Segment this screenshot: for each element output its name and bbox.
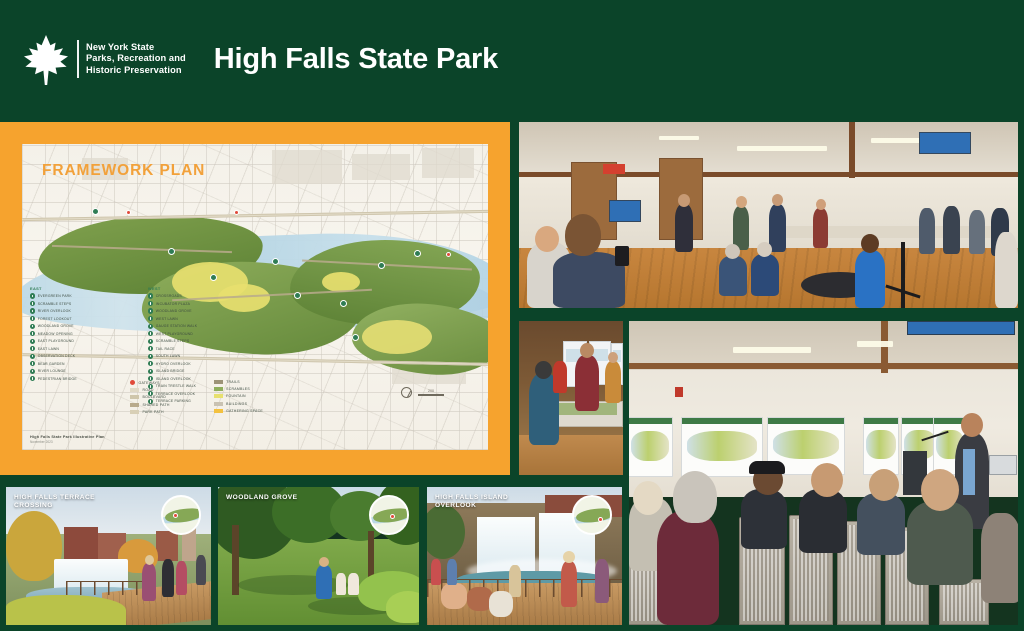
person-head (565, 214, 601, 256)
ceiling-light (737, 146, 827, 151)
pin-icon (148, 369, 153, 374)
render-high-falls-terrace-crossing: HIGH FALLS TERRACE CROSSING (6, 487, 211, 625)
plan-pin (210, 274, 217, 281)
presentation-screen (919, 132, 971, 154)
board-header (864, 418, 898, 424)
slide-root: New York State Parks, Recreation and His… (0, 0, 1024, 631)
pin-icon (30, 339, 35, 344)
locator-marker (598, 517, 603, 522)
visitor (509, 565, 521, 597)
plan-pin (294, 292, 301, 299)
pin-icon (148, 308, 153, 313)
wall-beam (629, 363, 1018, 369)
photo-public-meeting-hall (519, 122, 1018, 308)
plan-pin (414, 250, 421, 257)
person-head (633, 481, 663, 515)
key-label: GATEWAYS (139, 381, 160, 385)
plan-pin (168, 248, 175, 255)
exit-sign (603, 164, 625, 174)
board-map (773, 430, 840, 459)
pin-icon (30, 301, 35, 306)
fountain-swatch-icon (214, 394, 223, 398)
legend-item: EAST LAWN (30, 346, 96, 351)
shared-path-swatch-icon (130, 403, 139, 407)
legend-item: GAUGE STATION WALK (148, 324, 214, 329)
audience-member (799, 489, 847, 553)
agency-name: New York State Parks, Recreation and His… (86, 42, 186, 76)
render-high-falls-island-overlook: HIGH FALLS ISLAND OVERLOOK (427, 487, 622, 625)
pin-icon (30, 376, 35, 381)
key-row: BUILDINGS (214, 402, 263, 406)
plan-pin (92, 208, 99, 215)
key-label: SCRAMBLES (226, 387, 250, 391)
visitor (142, 563, 156, 601)
pin-icon (30, 316, 35, 321)
scale-bar-graphic (418, 394, 444, 396)
locator-park (164, 507, 201, 524)
legend-item: WEST PLAYGROUND (148, 331, 214, 336)
photo-presentation-audience (629, 321, 1018, 625)
pin-icon (30, 361, 35, 366)
audience-member (981, 513, 1018, 603)
key-row: PARK PATH (130, 410, 170, 414)
locator-marker (173, 513, 178, 518)
trails-swatch-icon (214, 380, 223, 384)
person-head (145, 555, 154, 565)
pin-icon (148, 316, 153, 321)
pin-icon (148, 324, 153, 329)
visitor (431, 559, 441, 585)
projection-screen (907, 321, 1015, 335)
seat-mesh (943, 583, 985, 621)
person (855, 250, 885, 308)
legend-item: CROSSROADS (148, 293, 214, 298)
visitor (561, 561, 577, 607)
locator-park (575, 507, 612, 524)
person-head (580, 343, 594, 358)
key-row: ROAD (130, 388, 170, 392)
visitor (595, 559, 609, 603)
agency-line-2: Parks, Recreation and (86, 53, 186, 64)
person-head (736, 196, 747, 208)
audience-member (907, 501, 973, 585)
person (675, 204, 693, 252)
photo-audience-scene (629, 321, 1018, 625)
legend-item-label: SCRAMBLE STEPS (38, 302, 72, 306)
pin-icon (148, 293, 153, 298)
render-label: HIGH FALLS TERRACE CROSSING (14, 494, 95, 510)
pin-icon (30, 308, 35, 313)
legend-item-label: INCUBATOR PLAZA (156, 302, 190, 306)
legend-item: BEAR GARDEN (30, 361, 96, 366)
person (943, 206, 960, 254)
gateway-marker (126, 210, 131, 215)
gateway-marker (234, 210, 239, 215)
gathering-space-swatch-icon (214, 409, 223, 413)
boulevard-swatch-icon (130, 395, 139, 399)
key-column-left: GATEWAYS ROAD BOULEVARD SHARED PATH PARK… (130, 380, 170, 414)
city-block (272, 150, 342, 184)
key-row: TRAILS (214, 380, 263, 384)
key-row: BOULEVARD (130, 395, 170, 399)
legend-item-label: GAUGE STATION WALK (156, 324, 197, 328)
board-header (629, 418, 672, 424)
legend-item: EVERGREEN PARK (30, 293, 96, 298)
presenter-shirt (963, 449, 975, 495)
lawn-shape (218, 284, 270, 312)
sunhat (563, 551, 575, 563)
legend-item-label: OBSERVATION DECK (38, 354, 76, 358)
plan-key-legend: GATEWAYS ROAD BOULEVARD SHARED PATH PARK… (130, 380, 263, 414)
legend-item-label: FOREST LOOKOUT (38, 317, 72, 321)
legend-item-label: EAST PLAYGROUND (38, 339, 74, 343)
legend-item-label: SOUTH LAWN (156, 354, 180, 358)
person-head (678, 194, 690, 207)
board-map (687, 431, 757, 461)
ceiling-light (659, 136, 699, 140)
legend-item-label: WEST PLAYGROUND (156, 332, 193, 336)
gateway-marker (446, 252, 451, 257)
lawn-shape (362, 320, 432, 354)
map-scale: 200 (401, 387, 444, 398)
agency-line-3: Historic Preservation (86, 65, 186, 76)
person-head (535, 226, 559, 252)
person-head (869, 469, 899, 501)
board-map (866, 430, 896, 459)
person (733, 206, 749, 250)
city-block (352, 154, 410, 180)
visitor-seated (441, 583, 467, 609)
key-label: FOUNTAIN (226, 394, 246, 398)
key-label: BOULEVARD (143, 395, 167, 399)
pin-icon (30, 354, 35, 359)
project-board (629, 417, 673, 477)
gateway-swatch-icon (130, 380, 135, 385)
plan-heading: FRAMEWORK PLAN (42, 162, 205, 180)
legend-item-label: TAIL RACE (156, 347, 175, 351)
visitor (447, 559, 457, 585)
legend-item-label: WEST LAWN (156, 317, 178, 321)
project-board (863, 417, 899, 475)
photo-display-boards (519, 321, 623, 475)
legend-item: TAIL RACE (148, 346, 214, 351)
plan-caption: High Falls State Park Illustrative Plan … (30, 435, 105, 444)
photo-hall-scene (519, 122, 1018, 308)
wall-beam (849, 122, 855, 178)
legend-item: WOODLAND GROVE (148, 308, 214, 313)
legend-item-label: BEAR GARDEN (38, 362, 65, 366)
person-staff (575, 355, 599, 411)
framework-plan-card: FRAMEWORK PLAN EAST EVERGREEN PARK SCRAM… (22, 144, 488, 450)
key-label: PARK PATH (143, 410, 164, 414)
legend-item-label: EVERGREEN PARK (38, 294, 72, 298)
legend-item-label: ISLAND BRIDGE (156, 369, 185, 373)
maple-leaf-icon (22, 33, 70, 85)
legend-item: OBSERVATION DECK (30, 354, 96, 359)
person-head (535, 361, 552, 379)
visitor (196, 555, 206, 585)
building (64, 527, 98, 561)
agency-logo: New York State Parks, Recreation and His… (22, 33, 186, 85)
legend-item: WEST LAWN (148, 316, 214, 321)
legend-column-east: EAST EVERGREEN PARK SCRAMBLE STEPS RIVER… (30, 286, 96, 406)
plan-pin (340, 300, 347, 307)
person-seated (719, 256, 747, 296)
legend-item: MEADOW OPENING (30, 331, 96, 336)
framework-plan-panel: FRAMEWORK PLAN EAST EVERGREEN PARK SCRAM… (0, 122, 510, 475)
photo-boards-scene (519, 321, 623, 475)
locator-map-icon (161, 495, 201, 535)
pin-icon (30, 331, 35, 336)
person (919, 208, 935, 254)
key-label: GATHERING SPACE (226, 409, 263, 413)
legend-item-label: PEDESTRIAN BRIDGE (38, 377, 77, 381)
key-label: ROAD (143, 388, 154, 392)
person (769, 204, 786, 252)
legend-item-label: MEADOW OPENING (38, 332, 73, 336)
legend-item: SCRAMBLE STEPS (148, 339, 214, 344)
logo-divider (77, 40, 79, 78)
person-head (757, 242, 772, 257)
legend-item: SCRAMBLE STEPS (30, 301, 96, 306)
visitor-child (348, 573, 359, 595)
plan-pin (378, 262, 385, 269)
key-label: SHARED PATH (143, 403, 170, 407)
key-label: BUILDINGS (226, 402, 247, 406)
key-row: GATHERING SPACE (214, 409, 263, 413)
road-swatch-icon (130, 388, 139, 392)
visitor-seated (489, 591, 513, 617)
pin-icon (30, 324, 35, 329)
shrub-mass (6, 595, 126, 625)
baseball-cap (749, 461, 785, 474)
person (553, 361, 567, 393)
audience-member (857, 493, 905, 555)
ceiling-light (857, 341, 893, 347)
plan-pin (272, 258, 279, 265)
person-seated (751, 254, 779, 296)
person-head (811, 463, 843, 497)
legend-header: EAST (30, 286, 96, 291)
legend-item-label: RIVER LOUNGE (38, 369, 66, 373)
smartphone (615, 246, 629, 266)
person-head (921, 469, 959, 511)
presenter-head (961, 413, 983, 437)
legend-item: HYDRO OVERLOOK (148, 361, 214, 366)
legend-item: PEDESTRIAN BRIDGE (30, 376, 96, 381)
render-label: HIGH FALLS ISLAND OVERLOOK (435, 494, 508, 510)
pin-icon (30, 293, 35, 298)
legend-item-label: EAST LAWN (38, 347, 59, 351)
plan-caption-sub: November 2023 (30, 440, 105, 444)
key-row: FOUNTAIN (214, 394, 263, 398)
pin-icon (148, 301, 153, 306)
render-woodland-grove: WOODLAND GROVE (218, 487, 419, 625)
legend-item-label: WOODLAND GROVE (156, 309, 192, 313)
person-head (772, 194, 783, 206)
legend-item: SOUTH LAWN (148, 354, 214, 359)
legend-item-label: WOODLAND GROVE (38, 324, 74, 328)
locator-map-icon (572, 495, 612, 535)
legend-item-label: RIVER OVERLOOK (38, 309, 71, 313)
wall-monitor (609, 200, 641, 222)
visitor (176, 561, 187, 595)
pin-icon (148, 354, 153, 359)
north-arrow-icon (401, 387, 412, 398)
person-head (673, 471, 717, 523)
plan-pin (352, 334, 359, 341)
person-head (319, 557, 329, 567)
scale-bar: 200 (418, 389, 444, 396)
laptop (989, 455, 1017, 475)
key-row: GATEWAYS (130, 380, 170, 385)
legend-item: RIVER LOUNGE (30, 369, 96, 374)
scale-value: 200 (428, 389, 434, 393)
person (813, 208, 828, 248)
locator-marker (390, 514, 395, 519)
city-block (422, 148, 474, 178)
visitor-child (336, 573, 346, 595)
legend-item-label: HYDRO OVERLOOK (156, 362, 191, 366)
pin-icon (30, 346, 35, 351)
person-head (861, 234, 879, 253)
person-head (725, 244, 740, 259)
key-row: SCRAMBLES (214, 387, 263, 391)
park-path-swatch-icon (130, 410, 139, 414)
board-header (768, 418, 844, 424)
visitor (162, 559, 174, 597)
legend-item: INCUBATOR PLAZA (148, 301, 214, 306)
person (605, 361, 621, 403)
key-row: SHARED PATH (130, 403, 170, 407)
key-column-right: TRAILS SCRAMBLES FOUNTAIN BUILDINGS GATH… (214, 380, 263, 414)
audience-member (657, 511, 719, 625)
wall-beam (881, 321, 888, 373)
legend-item: RIVER OVERLOOK (30, 308, 96, 313)
plan-caption-title: High Falls State Park Illustrative Plan (30, 435, 105, 439)
ceiling-light (733, 347, 811, 353)
tripod (901, 242, 905, 308)
person (969, 210, 985, 254)
person-head (816, 199, 826, 210)
building (156, 531, 178, 561)
legend-item: FOREST LOOKOUT (30, 316, 96, 321)
pin-icon (148, 331, 153, 336)
legend-item-label: CROSSROADS (156, 294, 182, 298)
visitor-adult (316, 565, 332, 599)
legend-item: EAST PLAYGROUND (30, 339, 96, 344)
person (995, 232, 1018, 308)
page-header: New York State Parks, Recreation and His… (0, 0, 1024, 118)
pin-icon (148, 346, 153, 351)
person-head (608, 352, 618, 363)
legend-item: WOODLAND GROVE (30, 324, 96, 329)
scrambles-swatch-icon (214, 387, 223, 391)
pin-icon (148, 361, 153, 366)
pin-icon (148, 339, 153, 344)
locator-map-icon (369, 495, 409, 535)
render-label: WOODLAND GROVE (226, 494, 298, 502)
shrub-mass (386, 591, 419, 623)
legend-header: WEST (148, 286, 214, 291)
legend-item: ISLAND BRIDGE (148, 369, 214, 374)
board-header (682, 418, 762, 424)
audience-member (741, 489, 787, 549)
agency-line-1: New York State (86, 42, 186, 53)
page-title: High Falls State Park (214, 43, 498, 76)
fire-alarm (675, 387, 683, 397)
pin-icon (30, 369, 35, 374)
buildings-swatch-icon (214, 402, 223, 406)
legend-item-label: SCRAMBLE STEPS (156, 339, 190, 343)
board-map (631, 431, 670, 461)
key-label: TRAILS (226, 380, 240, 384)
